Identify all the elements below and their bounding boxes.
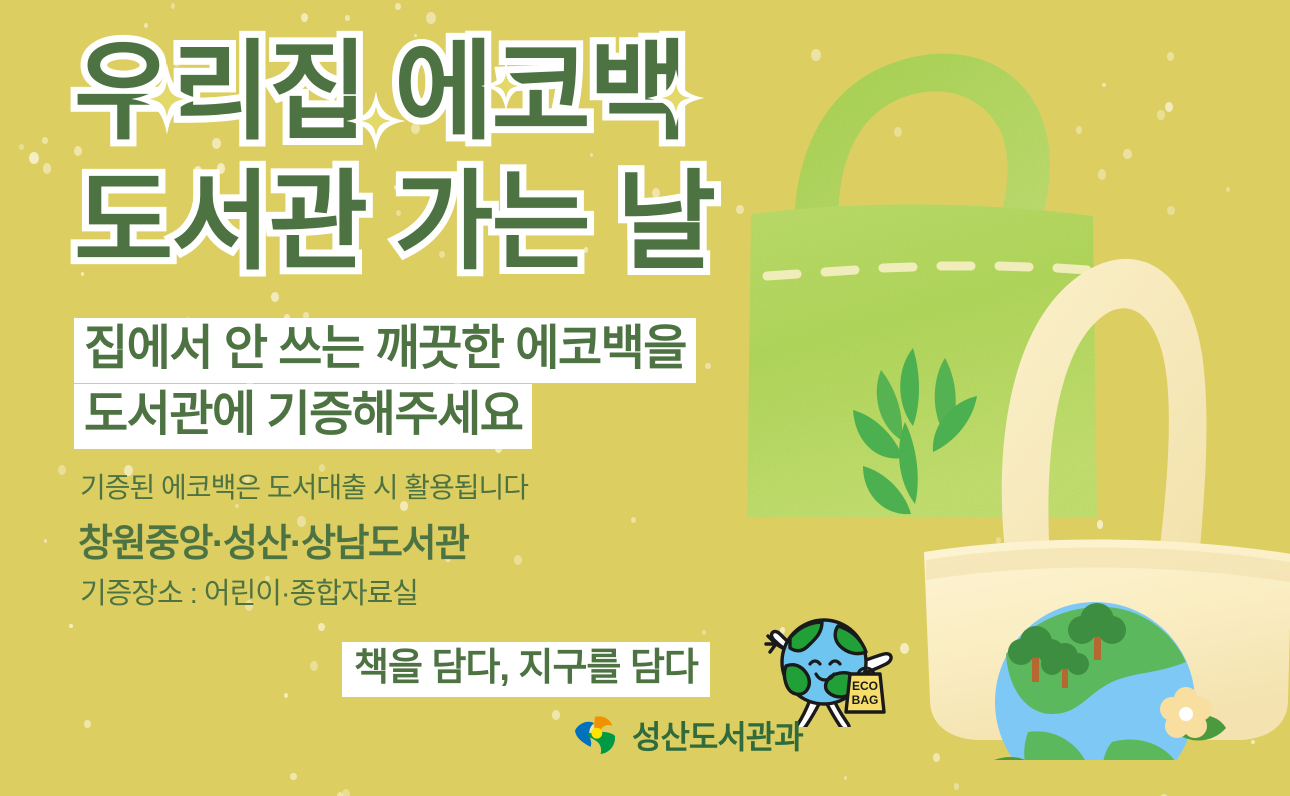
poster-canvas: ECO BAG 우리집 에코백 도서관 가는 날 집에서 안 쓰는 깨끗한 에코… xyxy=(0,0,1290,796)
copy-layer: 우리집 에코백 도서관 가는 날 집에서 안 쓰는 깨끗한 에코백을 도서관에 … xyxy=(0,0,1290,796)
donation-place: 기증장소 : 어린이·종합자료실 xyxy=(80,570,418,612)
poster-title-line-2: 도서관 가는 날 xyxy=(74,166,714,278)
changwon-swirl-logo xyxy=(572,715,618,755)
subtitle-line-2: 도서관에 기증해주세요 xyxy=(74,384,532,449)
poster-title-line-1: 우리집 에코백 xyxy=(74,36,686,148)
brand-footer: 성산도서관과 xyxy=(572,712,803,758)
library-names: 창원중앙·성산·상남도서관 xyxy=(78,512,468,567)
subtitle-line-1: 집에서 안 쓰는 깨끗한 에코백을 xyxy=(74,318,696,383)
department-name: 성산도서관과 xyxy=(632,712,803,758)
poster-tagline: 책을 담다, 지구를 담다 xyxy=(342,642,710,697)
usage-note: 기증된 에코백은 도서대출 시 활용됩니다 xyxy=(80,466,528,506)
